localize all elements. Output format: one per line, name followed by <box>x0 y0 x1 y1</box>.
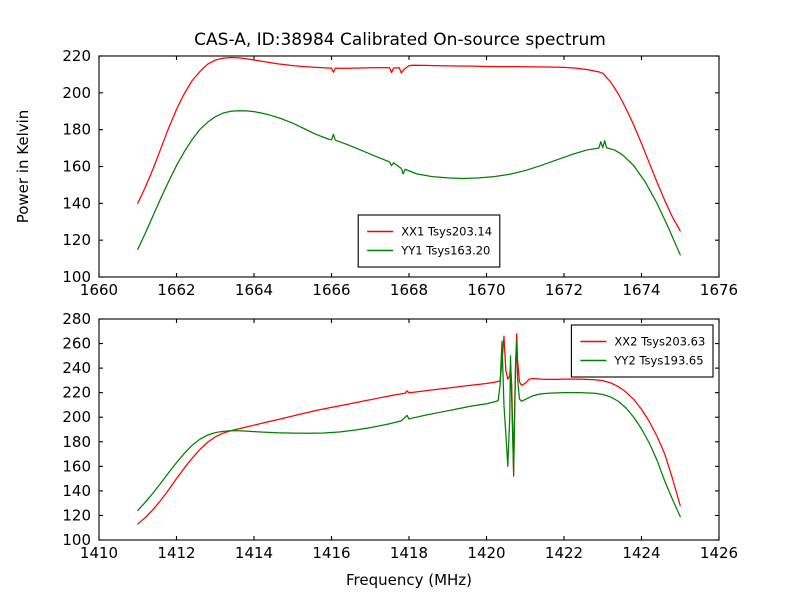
y-tick-label: 180 <box>62 433 91 451</box>
y-tick-label: 140 <box>62 482 91 500</box>
legend-label: XX2 Tsys203.63 <box>614 335 705 349</box>
figure-container: CAS-A, ID:38984 Calibrated On-source spe… <box>0 0 800 600</box>
x-tick-label: 1670 <box>467 281 505 299</box>
x-tick-label: 1668 <box>390 281 428 299</box>
legend: XX2 Tsys203.63YY2 Tsys193.65 <box>571 325 713 377</box>
y-tick-label: 260 <box>62 335 91 353</box>
x-tick-label: 1412 <box>157 544 195 562</box>
y-tick-label: 120 <box>62 231 91 249</box>
y-tick-label: 100 <box>62 531 91 549</box>
y-tick-label: 100 <box>62 268 91 286</box>
y-tick-label: 220 <box>62 47 91 65</box>
legend-box <box>358 215 500 267</box>
x-tick-label: 1424 <box>622 544 660 562</box>
x-tick-label: 1416 <box>312 544 350 562</box>
y-tick-label: 120 <box>62 506 91 524</box>
legend-box <box>571 325 713 377</box>
y-tick-label: 180 <box>62 121 91 139</box>
legend-label: XX1 Tsys203.14 <box>401 225 492 239</box>
legend-label: YY2 Tsys193.65 <box>613 354 703 368</box>
page-title: CAS-A, ID:38984 Calibrated On-source spe… <box>194 30 606 50</box>
x-axis-label: Frequency (MHz) <box>346 571 472 589</box>
x-tick-label: 1666 <box>312 281 350 299</box>
x-tick-label: 1674 <box>622 281 660 299</box>
y-tick-label: 280 <box>62 310 91 328</box>
x-tick-label: 1414 <box>235 544 273 562</box>
y-tick-label: 160 <box>62 158 91 176</box>
y-axis-label: Power in Kelvin <box>14 110 32 224</box>
y-tick-label: 200 <box>62 408 91 426</box>
x-tick-label: 1662 <box>157 281 195 299</box>
legend: XX1 Tsys203.14YY1 Tsys163.20 <box>358 215 500 267</box>
spectrum-figure: CAS-A, ID:38984 Calibrated On-source spe… <box>0 0 800 600</box>
x-tick-label: 1426 <box>700 544 738 562</box>
y-tick-label: 240 <box>62 359 91 377</box>
y-tick-label: 220 <box>62 384 91 402</box>
x-tick-label: 1418 <box>390 544 428 562</box>
x-tick-label: 1664 <box>235 281 273 299</box>
bottom-panel: 1410141214141416141814201422142414261001… <box>62 310 738 589</box>
legend-label: YY1 Tsys163.20 <box>400 244 490 258</box>
x-tick-label: 1422 <box>545 544 583 562</box>
x-tick-label: 1676 <box>700 281 738 299</box>
y-tick-label: 200 <box>62 84 91 102</box>
x-tick-label: 1672 <box>545 281 583 299</box>
top-panel: 1660166216641666166816701672167416761001… <box>14 47 738 299</box>
y-tick-label: 160 <box>62 457 91 475</box>
x-tick-label: 1420 <box>467 544 505 562</box>
y-tick-label: 140 <box>62 194 91 212</box>
